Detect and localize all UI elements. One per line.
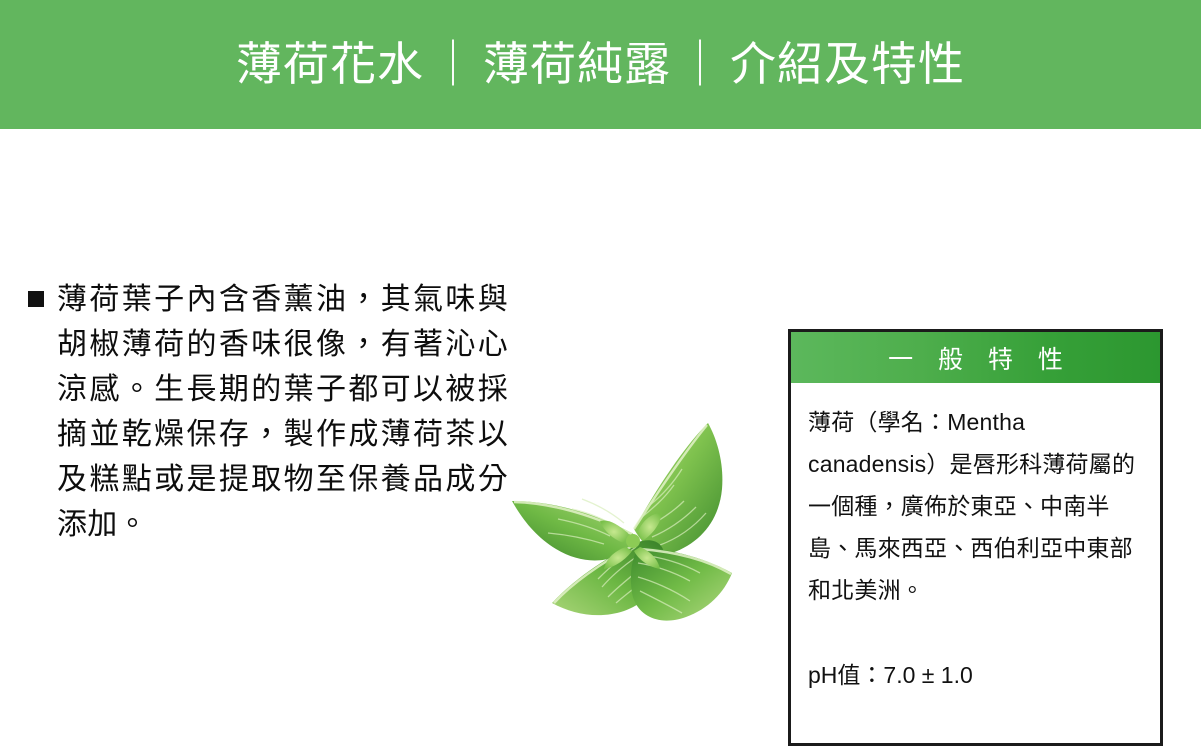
card-description: 薄荷（學名：Mentha canadensis）是唇形科薄荷屬的一個種，廣佈於東… <box>808 401 1146 611</box>
mint-leaves-illustration <box>486 397 786 637</box>
page-title-part-1: 薄荷花水 <box>236 38 424 90</box>
slide-header: 薄荷花水｜薄荷純露｜介紹及特性 <box>0 0 1201 129</box>
slide-body: 薄荷葉子內含香薰油，其氣味與胡椒薄荷的香味很像，有著沁心涼感。生長期的葉子都可以… <box>0 129 1201 700</box>
card-header-title: 一 般 特 性 <box>879 340 1072 376</box>
general-characteristics-card: 一 般 特 性 薄荷（學名：Mentha canadensis）是唇形科薄荷屬的… <box>788 329 1163 746</box>
list-item: 薄荷葉子內含香薰油，其氣味與胡椒薄荷的香味很像，有著沁心涼感。生長期的葉子都可以… <box>28 277 508 547</box>
card-body: 薄荷（學名：Mentha canadensis）是唇形科薄荷屬的一個種，廣佈於東… <box>791 383 1160 743</box>
ph-value-line: pH值：7.0 ± 1.0 <box>808 611 1146 692</box>
title-separator-1: ｜ <box>424 38 483 90</box>
title-separator-2: ｜ <box>671 38 730 90</box>
bullet-item-label: 薄荷葉子內含香薰油，其氣味與胡椒薄荷的香味很像，有著沁心涼感。生長期的葉子都可以… <box>57 277 508 547</box>
page-title: 薄荷花水｜薄荷純露｜介紹及特性 <box>236 39 965 90</box>
page-title-part-3: 介紹及特性 <box>730 38 965 90</box>
card-header: 一 般 特 性 <box>791 332 1160 383</box>
mint-leaves-svg <box>486 397 786 637</box>
page-title-part-2: 薄荷純露 <box>483 38 671 90</box>
square-bullet-icon <box>28 291 44 307</box>
bullet-list: 薄荷葉子內含香薰油，其氣味與胡椒薄荷的香味很像，有著沁心涼感。生長期的葉子都可以… <box>28 277 508 547</box>
